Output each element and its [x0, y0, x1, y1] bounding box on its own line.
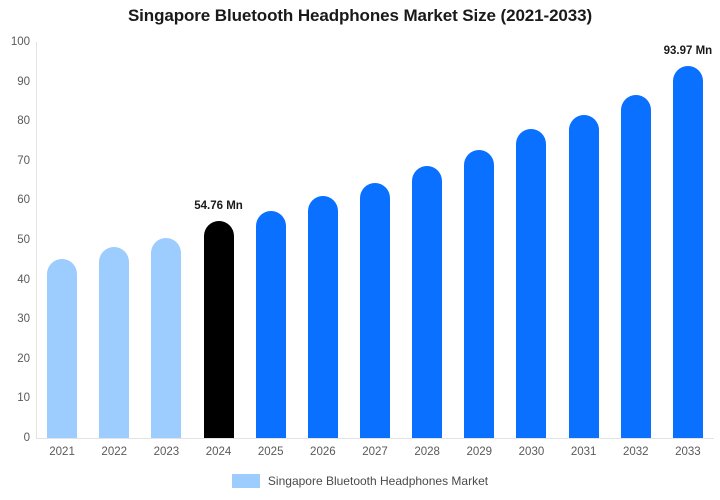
y-axis-tick-label: 10 — [0, 392, 30, 404]
x-axis-tick-label: 2021 — [32, 446, 92, 458]
legend-label: Singapore Bluetooth Headphones Market — [268, 474, 488, 488]
x-axis-tick-label: 2026 — [293, 446, 353, 458]
x-axis-tick-label: 2025 — [241, 446, 301, 458]
x-axis-tick-label: 2022 — [84, 446, 144, 458]
y-axis-tick-label: 30 — [0, 313, 30, 325]
y-axis-tick-label: 80 — [0, 115, 30, 127]
bar[interactable] — [412, 166, 442, 438]
bar-value-label: 93.97 Mn — [643, 45, 720, 57]
bar[interactable] — [151, 238, 181, 438]
x-axis-tick-label: 2030 — [501, 446, 561, 458]
y-axis-tick-label: 40 — [0, 274, 30, 286]
y-axis-tick-label: 60 — [0, 194, 30, 206]
chart-title: Singapore Bluetooth Headphones Market Si… — [0, 6, 720, 26]
x-axis-tick-label: 2032 — [606, 446, 666, 458]
x-axis-line — [36, 438, 714, 439]
x-axis-tick-label: 2023 — [136, 446, 196, 458]
y-axis-line — [36, 42, 37, 438]
chart-legend: Singapore Bluetooth Headphones Market — [0, 474, 720, 488]
bar[interactable] — [621, 95, 651, 438]
bar[interactable] — [464, 150, 494, 438]
legend-swatch-icon — [232, 474, 260, 488]
x-axis-tick-label: 2031 — [554, 446, 614, 458]
bar-value-label: 54.76 Mn — [174, 200, 264, 212]
bar[interactable] — [360, 183, 390, 438]
x-axis-tick-label: 2027 — [345, 446, 405, 458]
y-axis-tick-label: 90 — [0, 76, 30, 88]
x-axis-tick-label: 2024 — [189, 446, 249, 458]
x-axis-tick-label: 2033 — [658, 446, 718, 458]
y-axis-tick-label: 20 — [0, 353, 30, 365]
bar[interactable] — [256, 211, 286, 438]
bar[interactable] — [99, 247, 129, 438]
y-axis-tick-label: 100 — [0, 36, 30, 48]
bar[interactable] — [308, 196, 338, 438]
y-axis-tick-label: 0 — [0, 432, 30, 444]
bar[interactable] — [47, 259, 77, 438]
x-axis-tick-label: 2029 — [449, 446, 509, 458]
bar-chart: Singapore Bluetooth Headphones Market Si… — [0, 0, 720, 500]
y-axis-tick-label: 70 — [0, 155, 30, 167]
y-axis-tick-label: 50 — [0, 234, 30, 246]
bar[interactable] — [516, 129, 546, 438]
bar[interactable] — [569, 115, 599, 438]
bar[interactable] — [673, 66, 703, 438]
bar[interactable] — [204, 221, 234, 438]
x-axis-tick-label: 2028 — [397, 446, 457, 458]
